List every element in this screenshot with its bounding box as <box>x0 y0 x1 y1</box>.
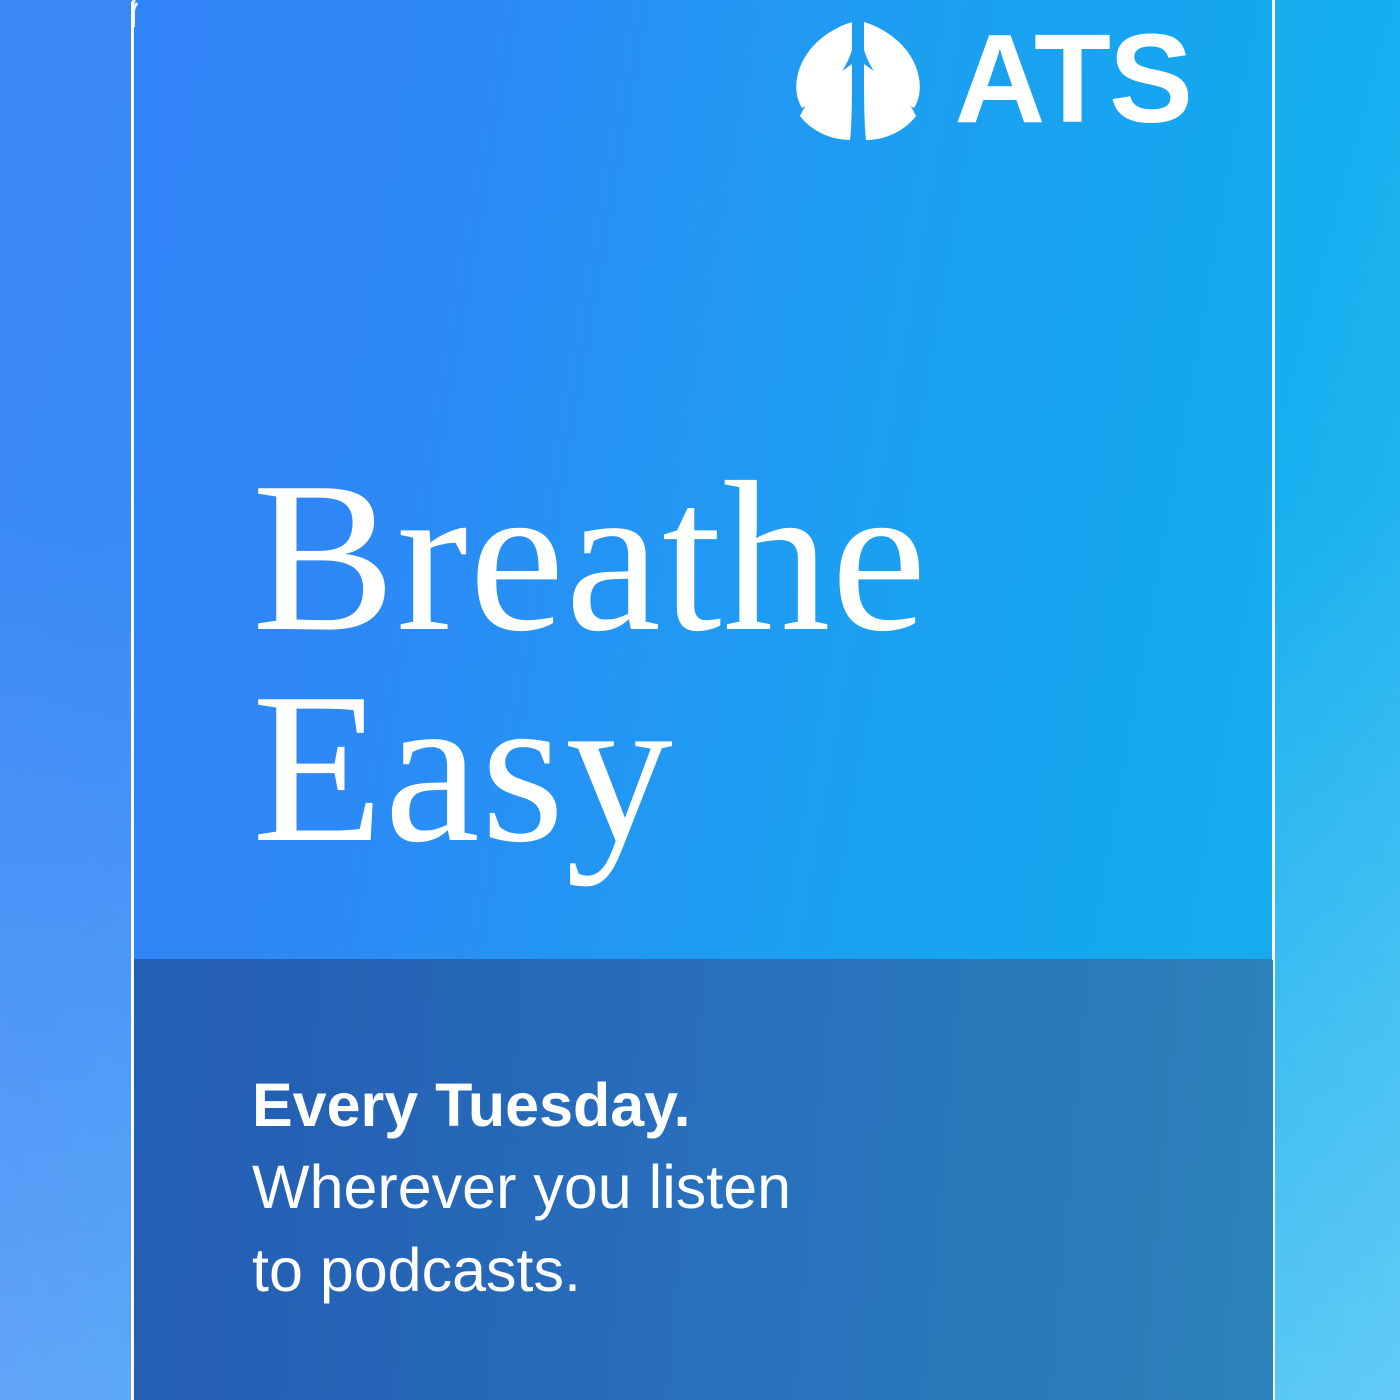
ats-lungs-leaf-icon <box>792 20 924 146</box>
footer-band: Every Tuesday. Wherever you listen to po… <box>133 959 1273 1400</box>
cover-card: ATS Breathe Easy Every Tuesday. Wherever… <box>133 0 1273 1400</box>
availability-line-1: Wherever you listen <box>252 1146 1112 1228</box>
show-title-line-1: Breathe <box>252 452 1152 663</box>
page-title: Breathe Easy <box>252 452 1152 873</box>
cover-art-canvas: ATS Breathe Easy Every Tuesday. Wherever… <box>0 0 1400 1400</box>
ats-wordmark: ATS <box>954 16 1191 142</box>
show-title: Breathe Easy <box>252 452 1152 873</box>
brand-lockup: ATS <box>792 20 1191 146</box>
release-cadence-line: Every Tuesday. <box>252 1064 1112 1146</box>
show-title-line-2: Easy <box>252 663 1152 874</box>
availability-line-2: to podcasts. <box>252 1229 1112 1311</box>
footer-text-block: Every Tuesday. Wherever you listen to po… <box>252 1064 1112 1311</box>
